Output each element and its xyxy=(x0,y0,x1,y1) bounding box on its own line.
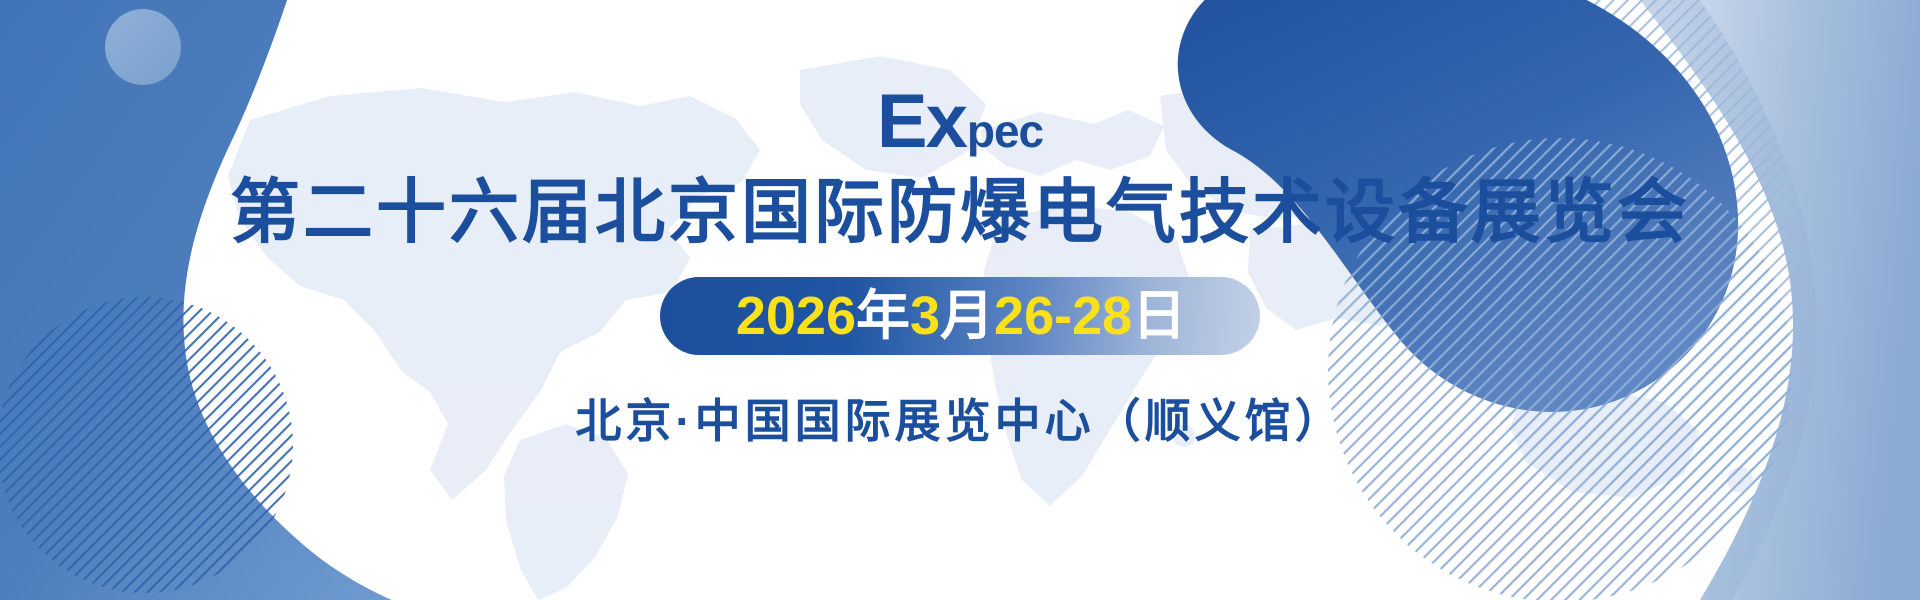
date-days: 26-28 xyxy=(994,289,1132,343)
date-month-label: 月 xyxy=(940,289,994,343)
event-date-text: 2026年3月26-28日 xyxy=(736,289,1186,343)
event-date-badge: 2026年3月26-28日 xyxy=(660,277,1260,355)
event-logo: Expec xyxy=(877,84,1043,160)
event-venue: 北京·中国国际展览中心（顺义馆） xyxy=(575,385,1344,451)
date-year-label: 年 xyxy=(856,289,910,343)
banner-content: Expec 第二十六届北京国际防爆电气技术设备展览会 2026年3月26-28日… xyxy=(0,0,1920,600)
logo-secondary-text: pec xyxy=(967,108,1043,154)
logo-primary-text: Ex xyxy=(877,84,966,160)
expo-banner: Expec 第二十六届北京国际防爆电气技术设备展览会 2026年3月26-28日… xyxy=(0,0,1920,600)
date-year: 2026 xyxy=(736,289,856,343)
event-title: 第二十六届北京国际防爆电气技术设备展览会 xyxy=(230,174,1690,251)
date-month: 3 xyxy=(910,289,940,343)
date-day-label: 日 xyxy=(1132,289,1186,343)
